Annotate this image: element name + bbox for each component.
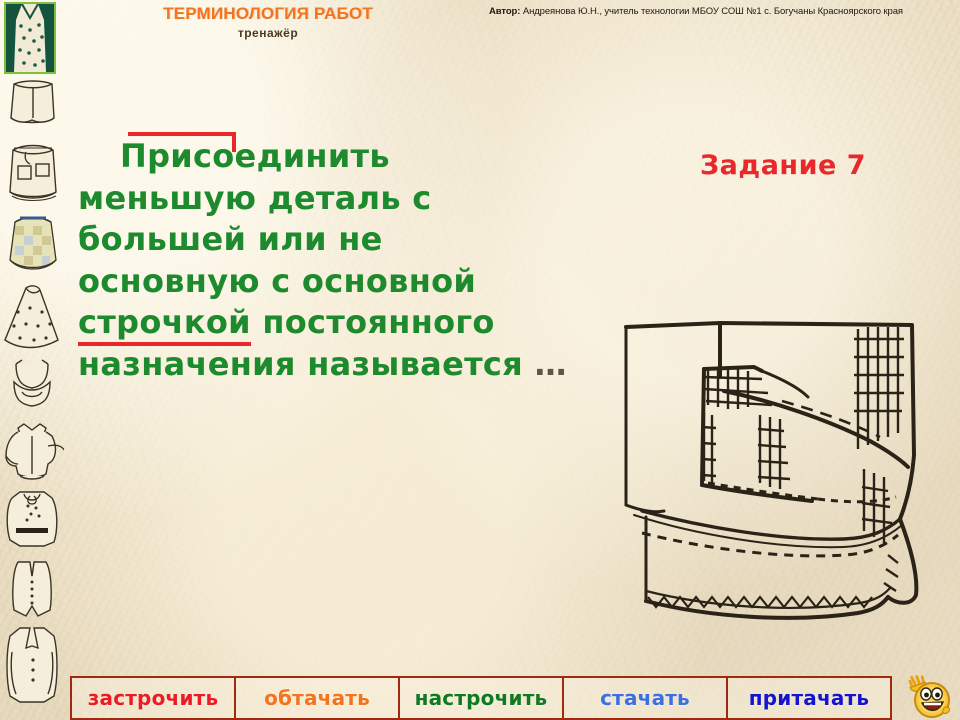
sketch-jacket bbox=[0, 622, 64, 714]
page-subtitle: тренажёр bbox=[118, 26, 418, 40]
question-line-6-text: назначения называется bbox=[78, 345, 523, 383]
author-label: Автор: bbox=[489, 6, 520, 17]
question-line-6: назначения называется … bbox=[78, 344, 628, 386]
photo-polka-dot-dress bbox=[4, 2, 56, 74]
sidebar-garment-strip bbox=[0, 0, 64, 720]
answer-label-3: стачать bbox=[600, 686, 690, 710]
answer-label-4: притачать bbox=[749, 686, 870, 710]
sketch-plaid-breeches bbox=[0, 212, 64, 282]
question-keyword-underlined: строчкой bbox=[78, 303, 251, 346]
question-line-3: большей или не bbox=[78, 219, 628, 261]
answer-button-0[interactable]: застрочить bbox=[72, 678, 236, 718]
question-line-5-rest: постоянного bbox=[251, 303, 495, 341]
sketch-belted-blouse bbox=[0, 486, 64, 556]
answer-options-row: застрочить обтачать настрочить стачать п… bbox=[70, 676, 892, 720]
author-name: Андреянова Ю.Н., учитель технологии МБОУ… bbox=[523, 6, 903, 17]
sketch-vest bbox=[0, 556, 64, 622]
question-line-4: основную с основной bbox=[78, 261, 628, 303]
smiley-wave-icon[interactable] bbox=[903, 673, 951, 720]
answer-button-3[interactable]: стачать bbox=[564, 678, 728, 718]
answer-button-1[interactable]: обтачать bbox=[236, 678, 400, 718]
sketch-bustier-top bbox=[0, 356, 64, 418]
answer-label-1: обтачать bbox=[264, 686, 370, 710]
question-block: Присоединить меньшую деталь с большей ил… bbox=[78, 136, 628, 386]
slide-canvas: ТЕРМИНОЛОГИЯ РАБОТ тренажёр Автор: Андре… bbox=[0, 0, 960, 720]
answer-label-2: настрочить bbox=[415, 686, 548, 710]
question-ellipsis: … bbox=[535, 345, 567, 383]
answer-button-4[interactable]: притачать bbox=[728, 678, 890, 718]
author-credit: Автор: Андреянова Ю.Н., учитель технолог… bbox=[440, 6, 952, 17]
answer-button-2[interactable]: настрочить bbox=[400, 678, 564, 718]
question-line-5: строчкой постоянного bbox=[78, 302, 628, 344]
task-number-badge: Задание 7 bbox=[700, 150, 866, 181]
sewing-pocket-technical-drawing bbox=[612, 305, 952, 650]
page-title: ТЕРМИНОЛОГИЯ РАБОТ bbox=[118, 4, 418, 24]
red-bracket-marker bbox=[128, 132, 236, 152]
sketch-shorts bbox=[0, 78, 64, 140]
question-line-2: меньшую деталь с bbox=[78, 178, 628, 220]
sketch-cargo-skirt bbox=[0, 140, 64, 212]
header-title-block: ТЕРМИНОЛОГИЯ РАБОТ тренажёр bbox=[118, 4, 418, 40]
answer-label-0: застрочить bbox=[88, 686, 219, 710]
sketch-collared-blouse bbox=[0, 418, 64, 486]
sketch-polka-dot-skirt bbox=[0, 282, 64, 356]
